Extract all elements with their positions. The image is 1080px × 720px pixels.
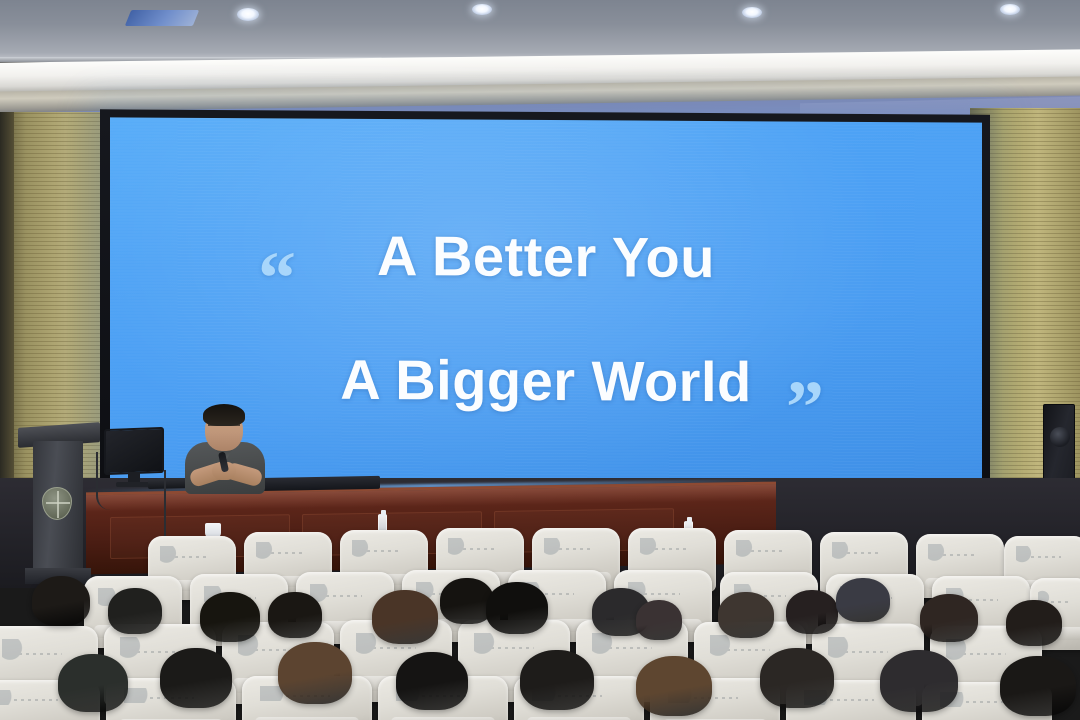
ceiling-downlight-3: [742, 7, 762, 19]
seat-back-crest-icon: [256, 542, 319, 559]
ceiling-downlight-1: [237, 8, 259, 21]
audience-member-head: [636, 656, 712, 716]
audience-member-head: [880, 650, 958, 712]
ceiling-downlight-4: [1000, 4, 1020, 16]
audience-member-head: [396, 652, 468, 710]
slide-headline-line-2: A Bigger World: [110, 345, 982, 415]
seat-back-crest-icon: [352, 540, 415, 557]
audience-member-head: [920, 594, 978, 642]
audience-member-head: [836, 578, 890, 622]
seat-back-crest-icon: [2, 639, 83, 660]
audience-member-head: [268, 592, 322, 638]
monitor-foot: [116, 482, 152, 487]
audience-member-head: [1000, 656, 1076, 716]
crest-vertical-bar: [57, 491, 59, 518]
audience-seating-area: [0, 520, 1080, 720]
slide-headline-line-1: A Better You: [110, 221, 982, 291]
presenter-hair: [203, 404, 245, 426]
seat-back-crest-icon: [832, 542, 895, 559]
seat-back-crest-icon: [160, 546, 223, 563]
crest-horizontal-bar: [46, 502, 70, 504]
audience-member-head: [200, 592, 260, 642]
audience-member-head: [636, 600, 682, 640]
seat-back-crest-icon: [736, 540, 799, 557]
speaker-cone-upper-icon: [1050, 427, 1070, 447]
audience-member-head: [718, 592, 774, 638]
audience-member-head: [786, 590, 838, 634]
seat-back-crest-icon: [1016, 546, 1076, 563]
lecture-hall-photo: “ A Better You A Bigger World ”: [0, 0, 1080, 720]
monitor-cable-1: [96, 452, 110, 510]
seat-back-crest-icon: [640, 538, 703, 555]
seat-back-crest-icon: [448, 538, 511, 555]
quote-close-icon: ”: [786, 381, 824, 434]
audience-member-head: [278, 642, 352, 704]
audience-member-head: [108, 588, 162, 634]
audience-member-head: [160, 648, 232, 708]
seat-back-crest-icon: [544, 538, 607, 555]
desk-pad: [250, 476, 380, 491]
seat-back-crest-icon: [310, 584, 381, 603]
ceiling-downlight-2: [472, 4, 492, 16]
audience-member-head: [486, 582, 548, 634]
audience-member-head: [58, 654, 128, 712]
presenter-glasses-icon: [208, 424, 240, 431]
audience-member-head: [1006, 600, 1062, 646]
audience-member-head: [32, 576, 90, 626]
seat-back-crest-icon: [928, 544, 991, 561]
audience-member-head: [520, 650, 594, 710]
audience-member-head: [372, 590, 438, 644]
ceiling-projector-recess: [125, 10, 199, 26]
audience-member-head: [760, 648, 834, 708]
stage-monitor[interactable]: [104, 427, 164, 475]
